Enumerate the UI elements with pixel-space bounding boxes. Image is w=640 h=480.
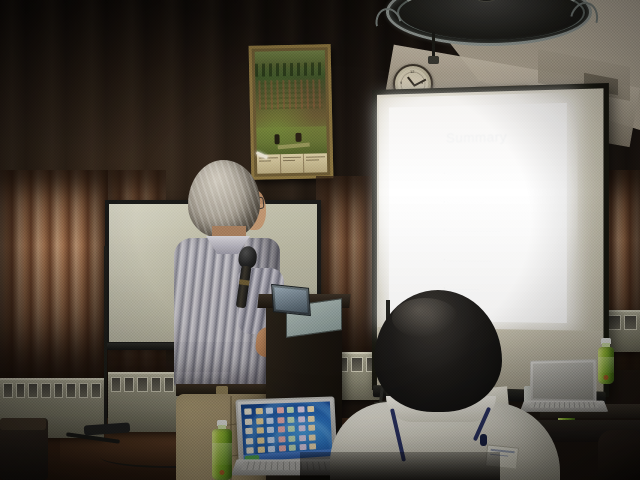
desktop-icon <box>266 417 273 423</box>
desktop-icon <box>298 425 305 431</box>
tripod-stand-pole <box>104 246 107 428</box>
lamp-ring-highlight <box>397 0 585 40</box>
desktop-icon <box>255 408 262 414</box>
desktop-icon <box>309 443 316 449</box>
desktop-icon <box>299 435 306 441</box>
desktop-icon <box>268 446 275 452</box>
poster-field <box>256 126 327 154</box>
lanyard-clip <box>480 434 487 446</box>
desktop-icon <box>278 445 285 451</box>
desktop-icon <box>246 437 254 444</box>
lamp-drop-rod <box>432 32 435 58</box>
poster-village <box>258 79 323 109</box>
desktop-icon <box>245 418 253 424</box>
desktop-icon <box>287 416 294 422</box>
desktop-icon <box>309 434 316 440</box>
green-tea-bottle <box>598 338 614 384</box>
poster-artwork <box>255 50 327 154</box>
desktop-icon <box>267 436 274 442</box>
desktop-icon <box>256 427 263 433</box>
desktop-icon <box>257 437 264 444</box>
bottle-body <box>598 347 614 384</box>
attendee-hair-highlight <box>392 298 458 338</box>
desktop-icon <box>244 408 252 414</box>
microphone-body <box>236 265 252 308</box>
desktop-icon <box>257 446 264 453</box>
curtain-shading <box>0 170 108 385</box>
desktop-icon <box>287 407 294 413</box>
desktop-icon <box>266 408 273 414</box>
caption-rule <box>283 156 302 158</box>
desktop-icon <box>245 428 253 435</box>
caption-rule <box>306 156 325 158</box>
slide-title: Summary <box>389 128 567 147</box>
bottle-logo-icon <box>220 470 225 475</box>
desktop-icon <box>246 447 254 454</box>
lamp-ring <box>386 0 592 46</box>
chair-left-seat <box>0 418 46 430</box>
desktop-icon <box>278 436 285 442</box>
radiator-vents <box>3 383 101 398</box>
desktop-icon <box>288 426 295 432</box>
clock-numeral-12: 12 <box>410 70 414 74</box>
chair-right <box>598 430 640 480</box>
poster-figure <box>295 132 301 141</box>
bottle-body <box>212 429 232 480</box>
slide-bullet: • ............................... <box>443 170 554 178</box>
bottle-label <box>598 357 614 373</box>
lectern-laptop-screen <box>274 287 307 313</box>
desktop-icon <box>277 426 284 432</box>
lamp-drop-cap <box>428 56 439 64</box>
slide-bullet: • ......................... <box>443 199 554 206</box>
bottle-label <box>212 443 232 464</box>
slide-bullet: • .............................. <box>443 257 554 264</box>
poster-figure <box>275 134 280 144</box>
desktop-icon <box>288 435 295 441</box>
desktop-icon <box>298 416 305 422</box>
desktop-icon <box>267 427 274 433</box>
desktop-icon <box>277 417 284 423</box>
bottle-logo-icon <box>604 375 609 380</box>
desktop-icon <box>308 425 315 431</box>
desktop-icon <box>276 407 283 413</box>
foreground-shadow <box>300 452 500 480</box>
slide-bullet: • .................................... <box>443 228 554 235</box>
ring-ceiling-light <box>386 0 586 54</box>
clock-numeral-9: 9 <box>400 81 402 85</box>
desktop-icon <box>299 444 306 450</box>
desktop-icon <box>308 415 315 421</box>
green-tea-bottle <box>212 420 232 480</box>
poster-treeline <box>255 63 325 77</box>
photo-scene: 12 3 6 9 <box>0 0 640 480</box>
desktop-icon <box>297 406 304 412</box>
desktop-icon <box>307 406 314 412</box>
desktop-icon <box>289 445 296 451</box>
lectern-laptop <box>271 284 311 316</box>
curtain-panel <box>0 170 108 385</box>
desktop-icon <box>256 418 263 424</box>
